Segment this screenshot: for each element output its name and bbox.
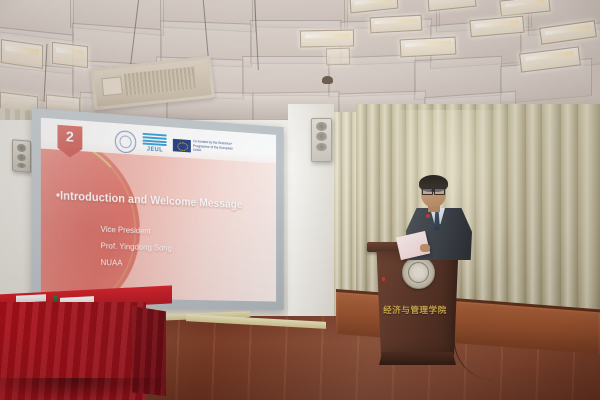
presentation-scene: 2 JEUL Co-funded by the Erasmus+ Program… [0, 0, 600, 400]
ceiling-light [326, 48, 351, 66]
slide-body-text: Vice President Prof. Yingdong Song NUAA [101, 221, 263, 275]
ceiling-light [400, 37, 457, 58]
eu-flag-icon [173, 138, 191, 152]
slide-accent-line [41, 130, 136, 301]
jeul-logo-label: JEUL [143, 145, 167, 154]
ceiling-light [370, 15, 423, 34]
ceiling-light [300, 30, 354, 48]
wall-speaker-icon [311, 118, 332, 162]
podium: 经济与管理学院 [371, 242, 464, 374]
wall-speaker-icon [12, 139, 31, 173]
ceiling-light [52, 42, 88, 68]
podium-sign-text: 经济与管理学院 [379, 304, 451, 316]
jeul-logo-icon: JEUL [143, 132, 167, 154]
smoke-detector-icon [322, 76, 333, 84]
podium-base [379, 352, 456, 365]
projection-screen-surface: 2 JEUL Co-funded by the Erasmus+ Program… [41, 118, 276, 302]
projection-screen: 2 JEUL Co-funded by the Erasmus+ Program… [32, 108, 284, 310]
eu-cofunded-logo: Co-funded by the Erasmus+ Programme of t… [173, 138, 233, 155]
university-seal-icon [115, 129, 136, 153]
eu-cofunded-label: Co-funded by the Erasmus+ Programme of t… [193, 140, 234, 155]
university-emblem-icon [402, 256, 435, 289]
speaker-person [404, 178, 476, 260]
presentation-slide: 2 JEUL Co-funded by the Erasmus+ Program… [41, 118, 276, 302]
hand [420, 244, 430, 252]
glasses-icon [422, 188, 445, 193]
podium-side-marker [382, 277, 385, 281]
table-shadow [0, 378, 170, 400]
lapel-pin-icon [426, 214, 430, 218]
